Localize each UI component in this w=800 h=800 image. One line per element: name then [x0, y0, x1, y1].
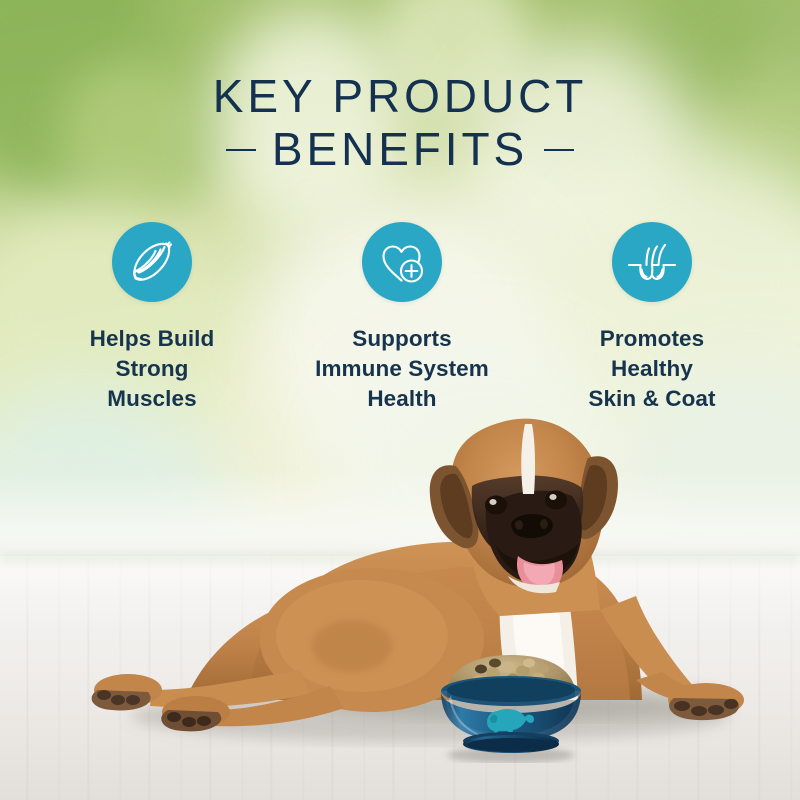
heart-plus-icon-circle — [362, 222, 442, 302]
benefits-row: Helps Build Strong Muscles Supports Immu… — [0, 222, 800, 414]
benefit-label-line: Supports — [315, 324, 489, 354]
benefit-label-line: Helps Build — [90, 324, 215, 354]
benefit-label-line: Strong — [90, 354, 215, 384]
benefit-item-immune: Supports Immune System Health — [277, 222, 527, 414]
benefit-label-line: Immune System — [315, 354, 489, 384]
benefit-label-line: Health — [315, 384, 489, 414]
benefit-label-skin-coat: Promotes Healthy Skin & Coat — [588, 324, 715, 414]
title-line-2-group: BENEFITS — [0, 125, 800, 174]
heart-plus-icon — [374, 234, 430, 290]
benefit-label-line: Skin & Coat — [588, 384, 715, 414]
title-line-2: BENEFITS — [272, 125, 528, 174]
page-title: KEY PRODUCT BENEFITS — [0, 72, 800, 174]
benefit-item-muscles: Helps Build Strong Muscles — [27, 222, 277, 414]
infographic-canvas: KEY PRODUCT BENEFITS — [0, 0, 800, 800]
benefit-label-muscles: Helps Build Strong Muscles — [90, 324, 215, 414]
muscle-icon — [124, 234, 180, 290]
benefit-label-line: Muscles — [90, 384, 215, 414]
table-surface — [0, 556, 800, 800]
hair-follicle-icon — [624, 234, 680, 290]
hair-follicle-icon-circle — [612, 222, 692, 302]
benefit-label-line: Promotes — [588, 324, 715, 354]
benefit-label-line: Healthy — [588, 354, 715, 384]
benefit-label-immune: Supports Immune System Health — [315, 324, 489, 414]
dog-food-bowl — [425, 645, 597, 763]
title-dash-left — [226, 149, 256, 151]
title-line-1: KEY PRODUCT — [0, 72, 800, 121]
muscle-icon-circle — [112, 222, 192, 302]
title-dash-right — [544, 149, 574, 151]
benefit-item-skin-coat: Promotes Healthy Skin & Coat — [527, 222, 777, 414]
